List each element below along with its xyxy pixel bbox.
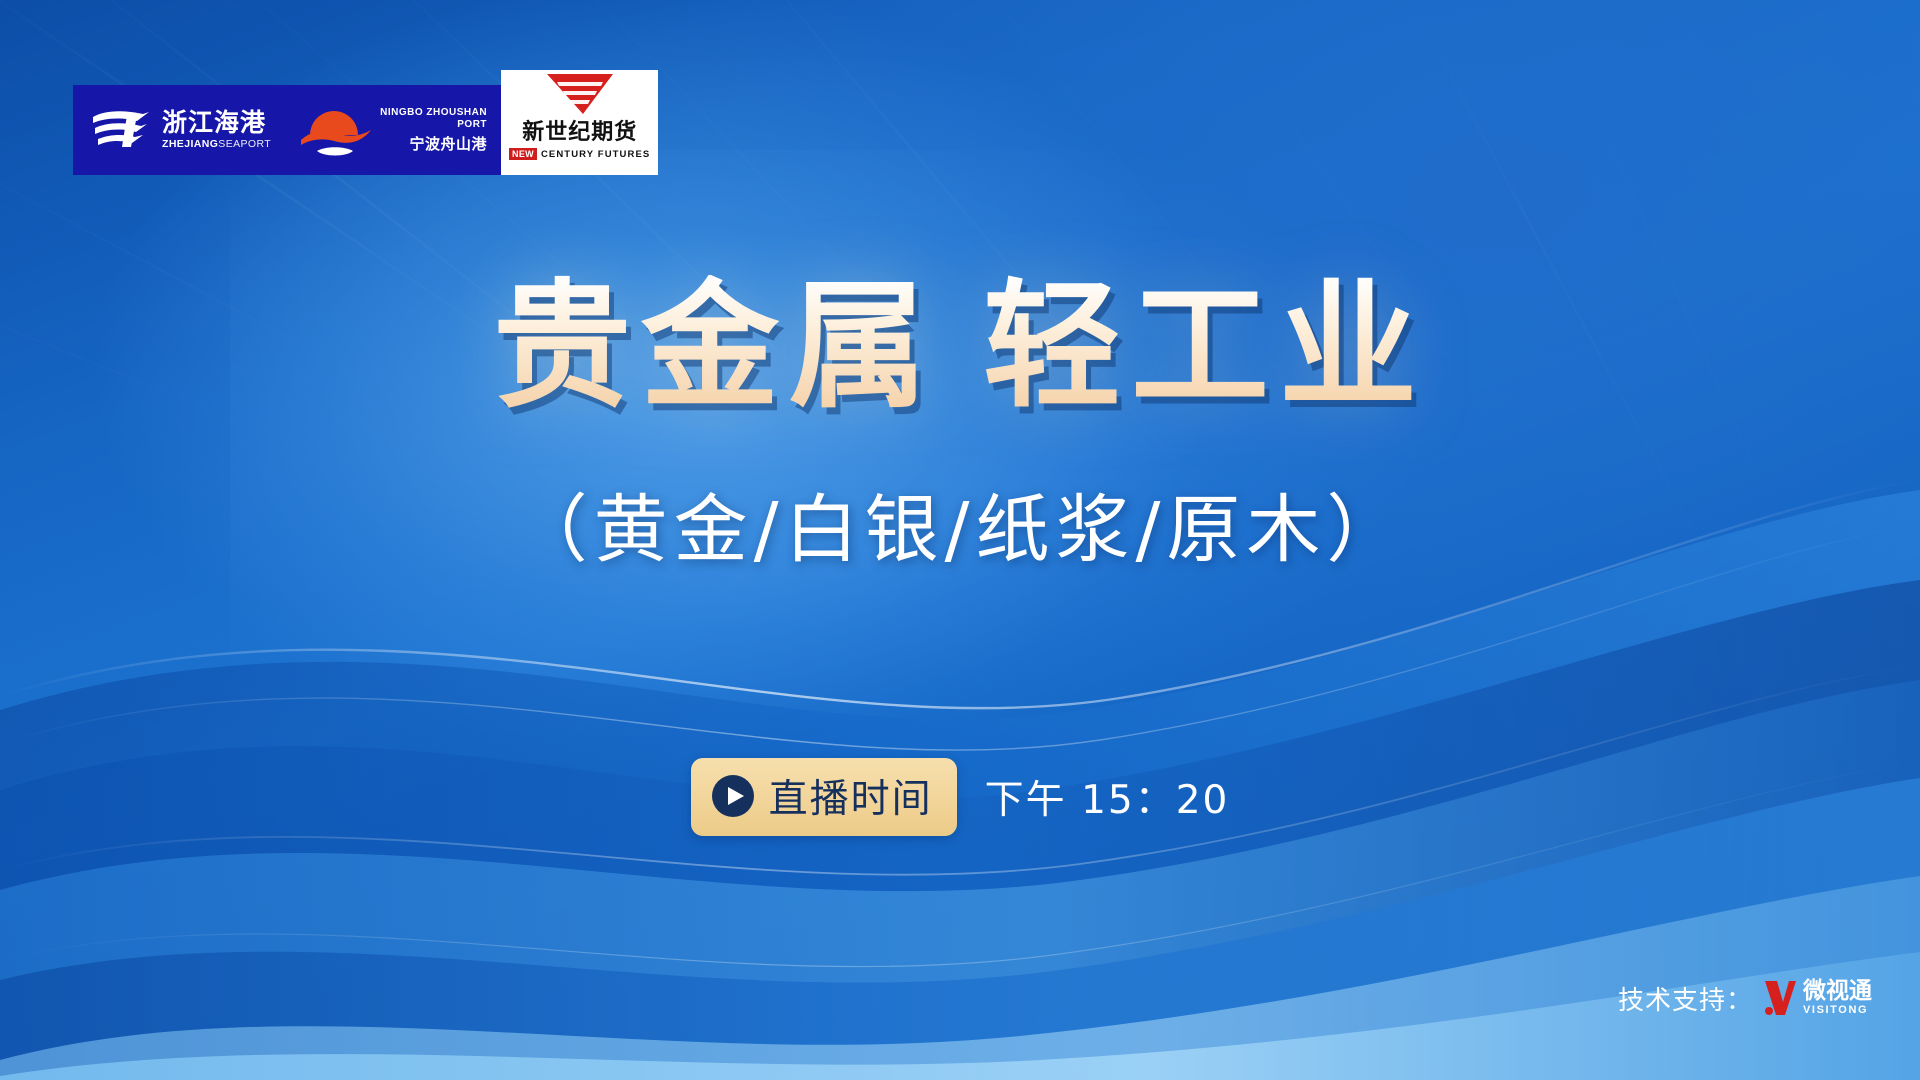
zhejiang-seaport-en: ZHEJIANGSEAPORT [162,139,271,150]
ncf-cn-name: 新世纪期货 [522,114,637,146]
live-time-value: 下午 15：20 [985,758,1230,836]
live-time-row: 直播时间 下午 15：20 [0,758,1920,836]
live-time-label: 直播时间 [769,768,933,824]
tech-support-label: 技术支持： [1618,980,1753,1017]
visitong-text: 微视通 VISITONG [1803,979,1872,1017]
live-time-badge[interactable]: 直播时间 [691,758,957,836]
visitong-en: VISITONG [1803,1005,1872,1017]
ncf-en-row: NEW CENTURY FUTURES [509,148,650,160]
port-logos-panel: 浙江海港 ZHEJIANGSEAPORT NINGBO ZHOUSHAN POR… [73,85,501,175]
title-part-2: 轻工业 [983,266,1427,427]
logo-new-century-futures: 新世纪期货 NEW CENTURY FUTURES [501,70,658,175]
red-v-chevron-mark-icon [543,72,617,116]
page-subtitle: （黄金/白银/纸浆/原木） [0,470,1920,577]
visitong-logo: 微视通 VISITONG [1763,978,1872,1018]
sunrise-over-waves-mark-icon [299,101,373,159]
wave-lines-mark-icon [91,107,153,153]
zhejiang-seaport-text: 浙江海港 ZHEJIANGSEAPORT [162,110,271,150]
visitong-cn: 微视通 [1803,979,1872,1003]
page-title: 贵金属轻工业 [0,275,1920,420]
logo-zhejiang-seaport: 浙江海港 ZHEJIANGSEAPORT [91,107,271,153]
title-part-1: 贵金属 [493,266,937,427]
ningbo-port-cn: 宁波舟山港 [410,136,488,153]
sponsor-logo-bar: 浙江海港 ZHEJIANGSEAPORT NINGBO ZHOUSHAN POR… [73,85,658,175]
play-circle-icon [711,774,755,818]
ncf-en-words: CENTURY FUTURES [541,149,650,160]
ncf-new-badge: NEW [509,148,537,160]
visitong-v-icon [1763,978,1797,1018]
ningbo-port-en-line2: PORT [457,119,487,130]
ningbo-zhoushan-port-text: NINGBO ZHOUSHAN PORT 宁波舟山港 [380,107,487,152]
poster-stage: 浙江海港 ZHEJIANGSEAPORT NINGBO ZHOUSHAN POR… [0,0,1920,1080]
tech-support-footer: 技术支持： 微视通 VISITONG [1618,978,1872,1018]
logo-ningbo-zhoushan-port: NINGBO ZHOUSHAN PORT 宁波舟山港 [299,101,487,159]
ningbo-port-en-line1: NINGBO ZHOUSHAN [380,107,487,118]
zhejiang-seaport-cn: 浙江海港 [162,110,271,135]
